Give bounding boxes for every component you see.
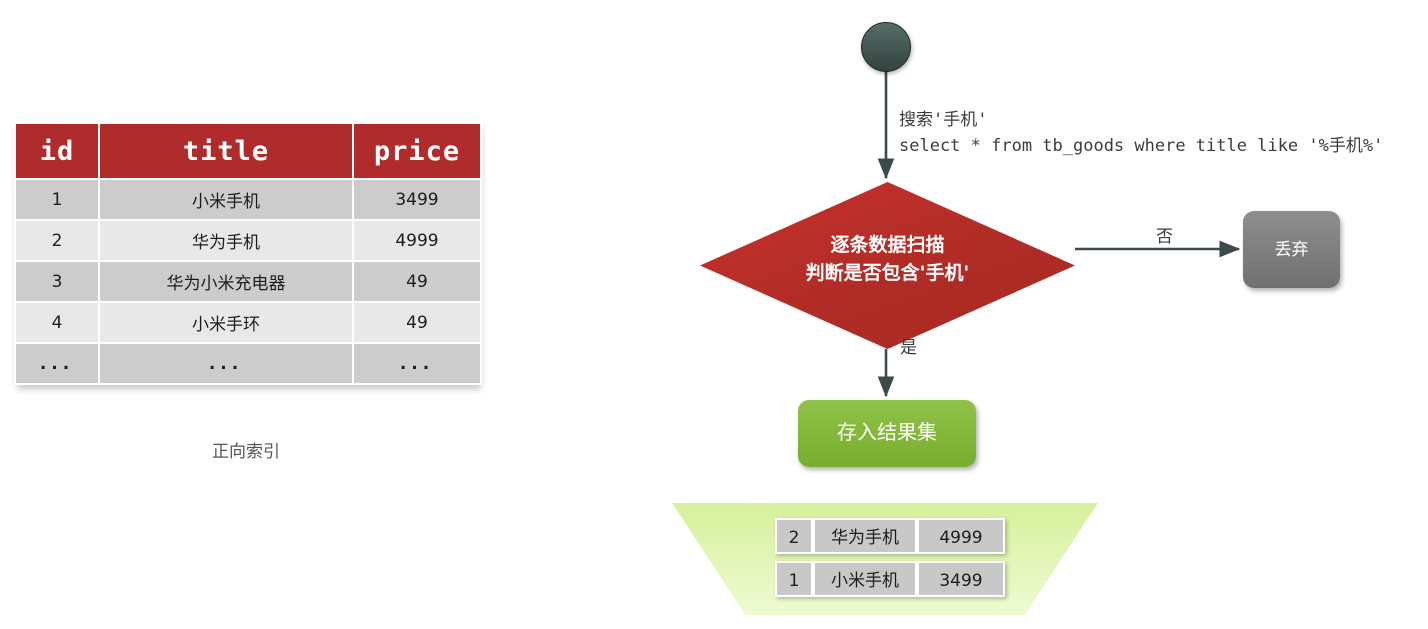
result-cell-price: 3499: [917, 561, 1005, 597]
query-annotation: 搜索'手机' select * from tb_goods where titl…: [899, 108, 1383, 160]
result-cell-id: 2: [775, 518, 813, 554]
result-cell-title: 小米手机: [813, 561, 917, 597]
result-cell-id: 1: [775, 561, 813, 597]
result-cell-price: 4999: [917, 518, 1005, 554]
start-node: [861, 22, 911, 72]
discard-node-label: 丢弃: [1243, 211, 1340, 288]
diamond-shape: [700, 182, 1075, 349]
edge-label-no: 否: [1156, 222, 1173, 247]
edge-label-yes: 是: [900, 333, 917, 358]
decision-node-scan: 逐条数据扫描 判断是否包含'手机': [700, 182, 1075, 349]
flow-diagram: 搜索'手机' select * from tb_goods where titl…: [0, 0, 1428, 629]
result-set-rows: 2 华为手机 4999 1 小米手机 3499: [775, 518, 1005, 604]
store-result-node: 存入结果集: [798, 400, 976, 467]
result-row: 2 华为手机 4999: [775, 518, 1005, 554]
discard-node: 丢弃: [1243, 211, 1340, 288]
store-result-node-label: 存入结果集: [798, 400, 976, 467]
result-cell-title: 华为手机: [813, 518, 917, 554]
result-row: 1 小米手机 3499: [775, 561, 1005, 597]
